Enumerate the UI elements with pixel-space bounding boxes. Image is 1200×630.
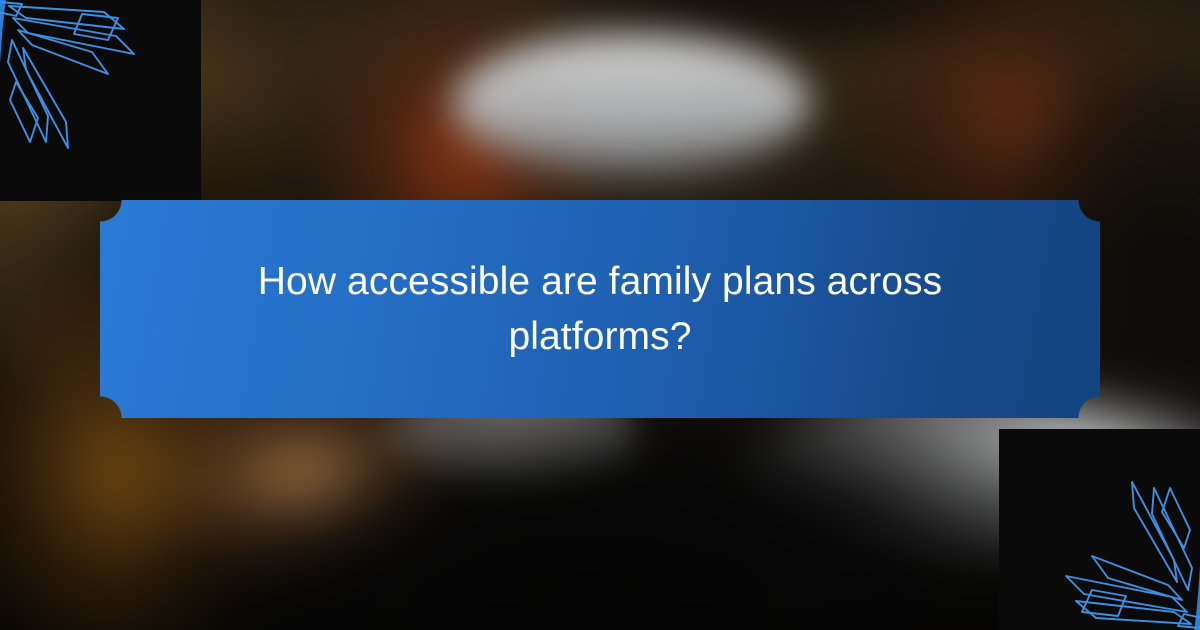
social-card: How accessible are family plans across p… bbox=[0, 0, 1200, 630]
headline-text: How accessible are family plans across p… bbox=[250, 254, 950, 365]
headline-banner: How accessible are family plans across p… bbox=[100, 200, 1100, 418]
